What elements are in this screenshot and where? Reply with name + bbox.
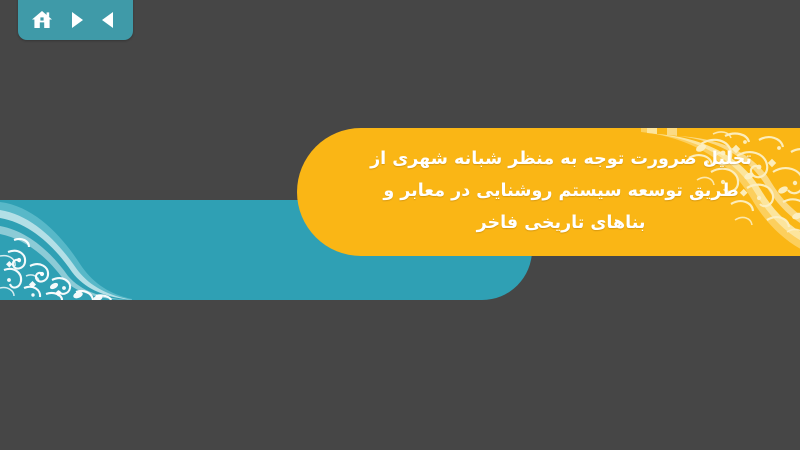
teal-corner-ornament-icon [0, 200, 132, 300]
orange-headline-banner: تحلیل ضرورت توجه به منظر شبانه شهری از ط… [297, 128, 800, 256]
home-icon [31, 9, 53, 31]
home-button[interactable] [29, 7, 55, 33]
slide-canvas: تحلیل ضرورت توجه به منظر شبانه شهری از ط… [0, 0, 800, 450]
forward-button[interactable] [63, 7, 89, 33]
back-button[interactable] [96, 7, 122, 33]
headline-line-3: بناهای تاریخی فاخر [477, 207, 646, 239]
forward-icon [66, 10, 86, 30]
navigation-bar [18, 0, 133, 40]
back-icon [99, 10, 119, 30]
orange-corner-ornament-icon [641, 128, 800, 256]
